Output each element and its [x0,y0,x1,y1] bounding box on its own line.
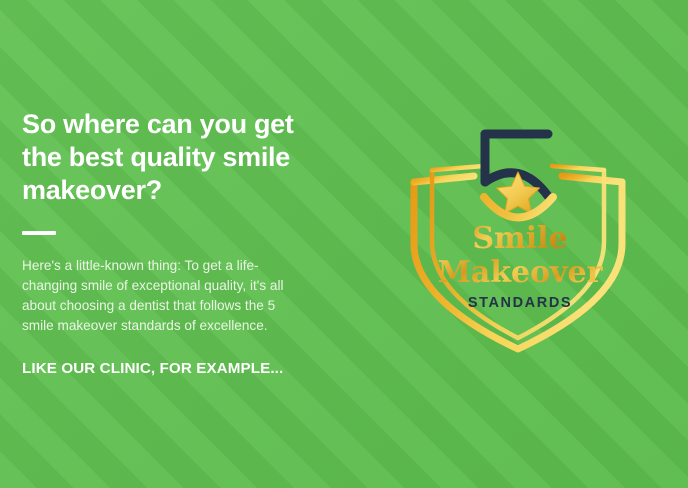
page-title: So where can you get the best quality sm… [22,108,322,207]
body-paragraph: Here's a little-known thing: To get a li… [22,256,308,336]
slide-canvas: So where can you get the best quality sm… [0,0,688,488]
smile-makeover-standards-badge: Smile Makeover STANDARDS [398,104,642,356]
title-divider-rule [22,231,56,235]
shield-shoulder-left [414,176,474,182]
call-to-action-text: LIKE OUR CLINIC, FOR EXAMPLE... [22,360,342,377]
logo-subtitle-standards: STANDARDS [468,295,572,311]
logo-word-makeover: Makeover [438,255,604,290]
logo-word-smile: Smile [472,221,567,256]
text-column: So where can you get the best quality sm… [22,108,342,377]
shield-shoulder-right [562,176,622,182]
shield-inner-shoulder-left [432,166,484,170]
shield-inner-shoulder-right [552,166,604,170]
